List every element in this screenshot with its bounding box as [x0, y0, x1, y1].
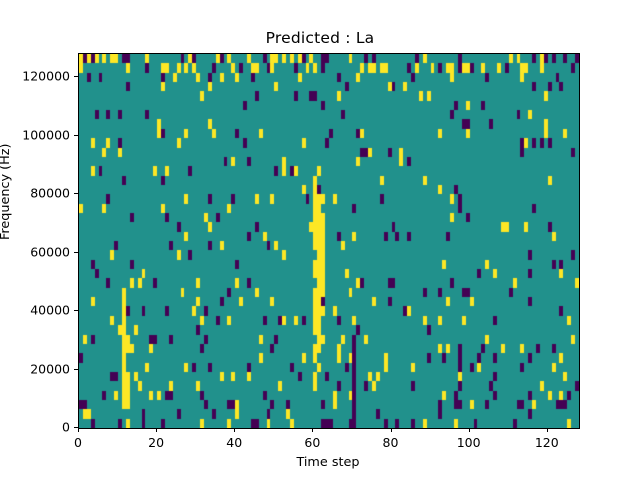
x-tick-mark: [391, 428, 392, 432]
y-tick-mark: [74, 76, 78, 77]
y-axis: 020000400006000080000100000120000: [0, 53, 78, 427]
x-tick-mark: [234, 428, 235, 432]
heatmap-image: [79, 54, 579, 428]
x-tick-mark: [312, 428, 313, 432]
y-tick-label: 20000: [30, 361, 70, 376]
y-tick-label: 100000: [22, 127, 70, 142]
x-tick-label: 20: [148, 435, 164, 450]
y-tick-label: 80000: [30, 186, 70, 201]
heatmap-axes[interactable]: [78, 53, 580, 429]
x-tick-label: 60: [304, 435, 320, 450]
x-axis-label: Time step: [78, 455, 578, 470]
y-tick-label: 60000: [30, 244, 70, 259]
x-tick-mark: [469, 428, 470, 432]
y-tick-mark: [74, 193, 78, 194]
x-tick-label: 120: [535, 435, 559, 450]
y-tick-mark: [74, 252, 78, 253]
figure-canvas: Predicted : La 0200004000060000800001000…: [0, 0, 640, 480]
y-tick-mark: [74, 135, 78, 136]
x-tick-mark: [78, 428, 79, 432]
y-tick-mark: [74, 369, 78, 370]
x-axis: 020406080100120: [78, 428, 579, 454]
x-tick-label: 40: [226, 435, 242, 450]
x-tick-mark: [547, 428, 548, 432]
chart-title: Predicted : La: [0, 29, 640, 47]
y-tick-label: 40000: [30, 303, 70, 318]
y-axis-label: Frequency (Hz): [0, 143, 13, 240]
x-tick-label: 80: [383, 435, 399, 450]
y-tick-mark: [74, 310, 78, 311]
x-tick-label: 100: [457, 435, 481, 450]
y-tick-label: 120000: [22, 69, 70, 84]
x-tick-mark: [156, 428, 157, 432]
x-tick-label: 0: [74, 435, 82, 450]
y-tick-label: 0: [62, 420, 70, 435]
